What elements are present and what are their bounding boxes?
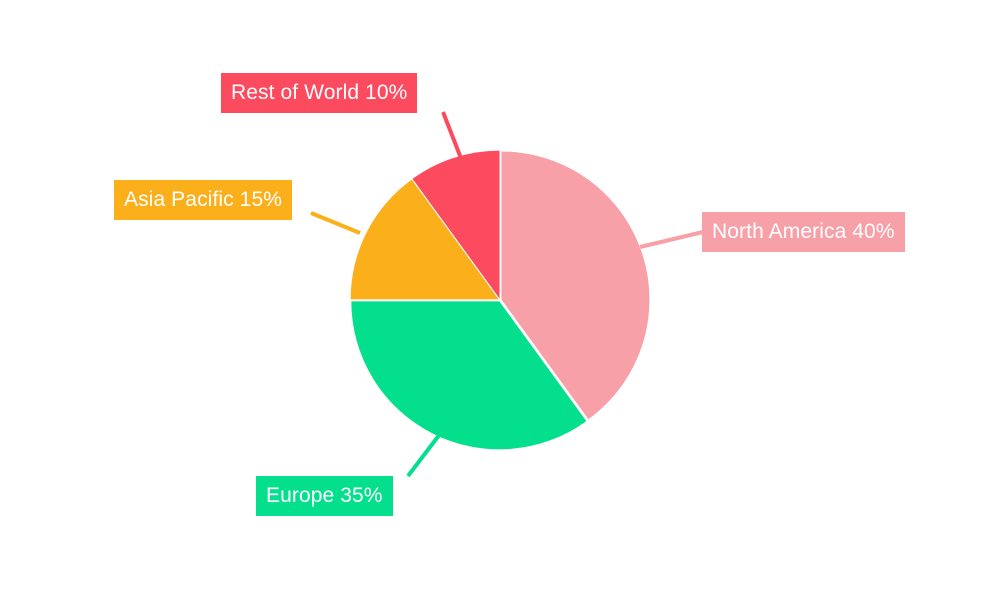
leader-line-asia-pacific: [311, 213, 360, 233]
leader-line-north-america: [640, 232, 703, 247]
pie-label-europe[interactable]: Europe 35%: [256, 476, 393, 516]
pie-label-asia-pacific[interactable]: Asia Pacific 15%: [114, 180, 292, 220]
pie-slices: [351, 151, 650, 450]
pie-chart-figure: North America 40% Europe 35% Asia Pacifi…: [0, 0, 1000, 600]
leader-line-europe: [408, 430, 443, 476]
pie-label-rest-of-world[interactable]: Rest of World 10%: [221, 73, 417, 113]
pie-chart-canvas: [0, 0, 1000, 600]
pie-label-north-america[interactable]: North America 40%: [702, 212, 905, 252]
